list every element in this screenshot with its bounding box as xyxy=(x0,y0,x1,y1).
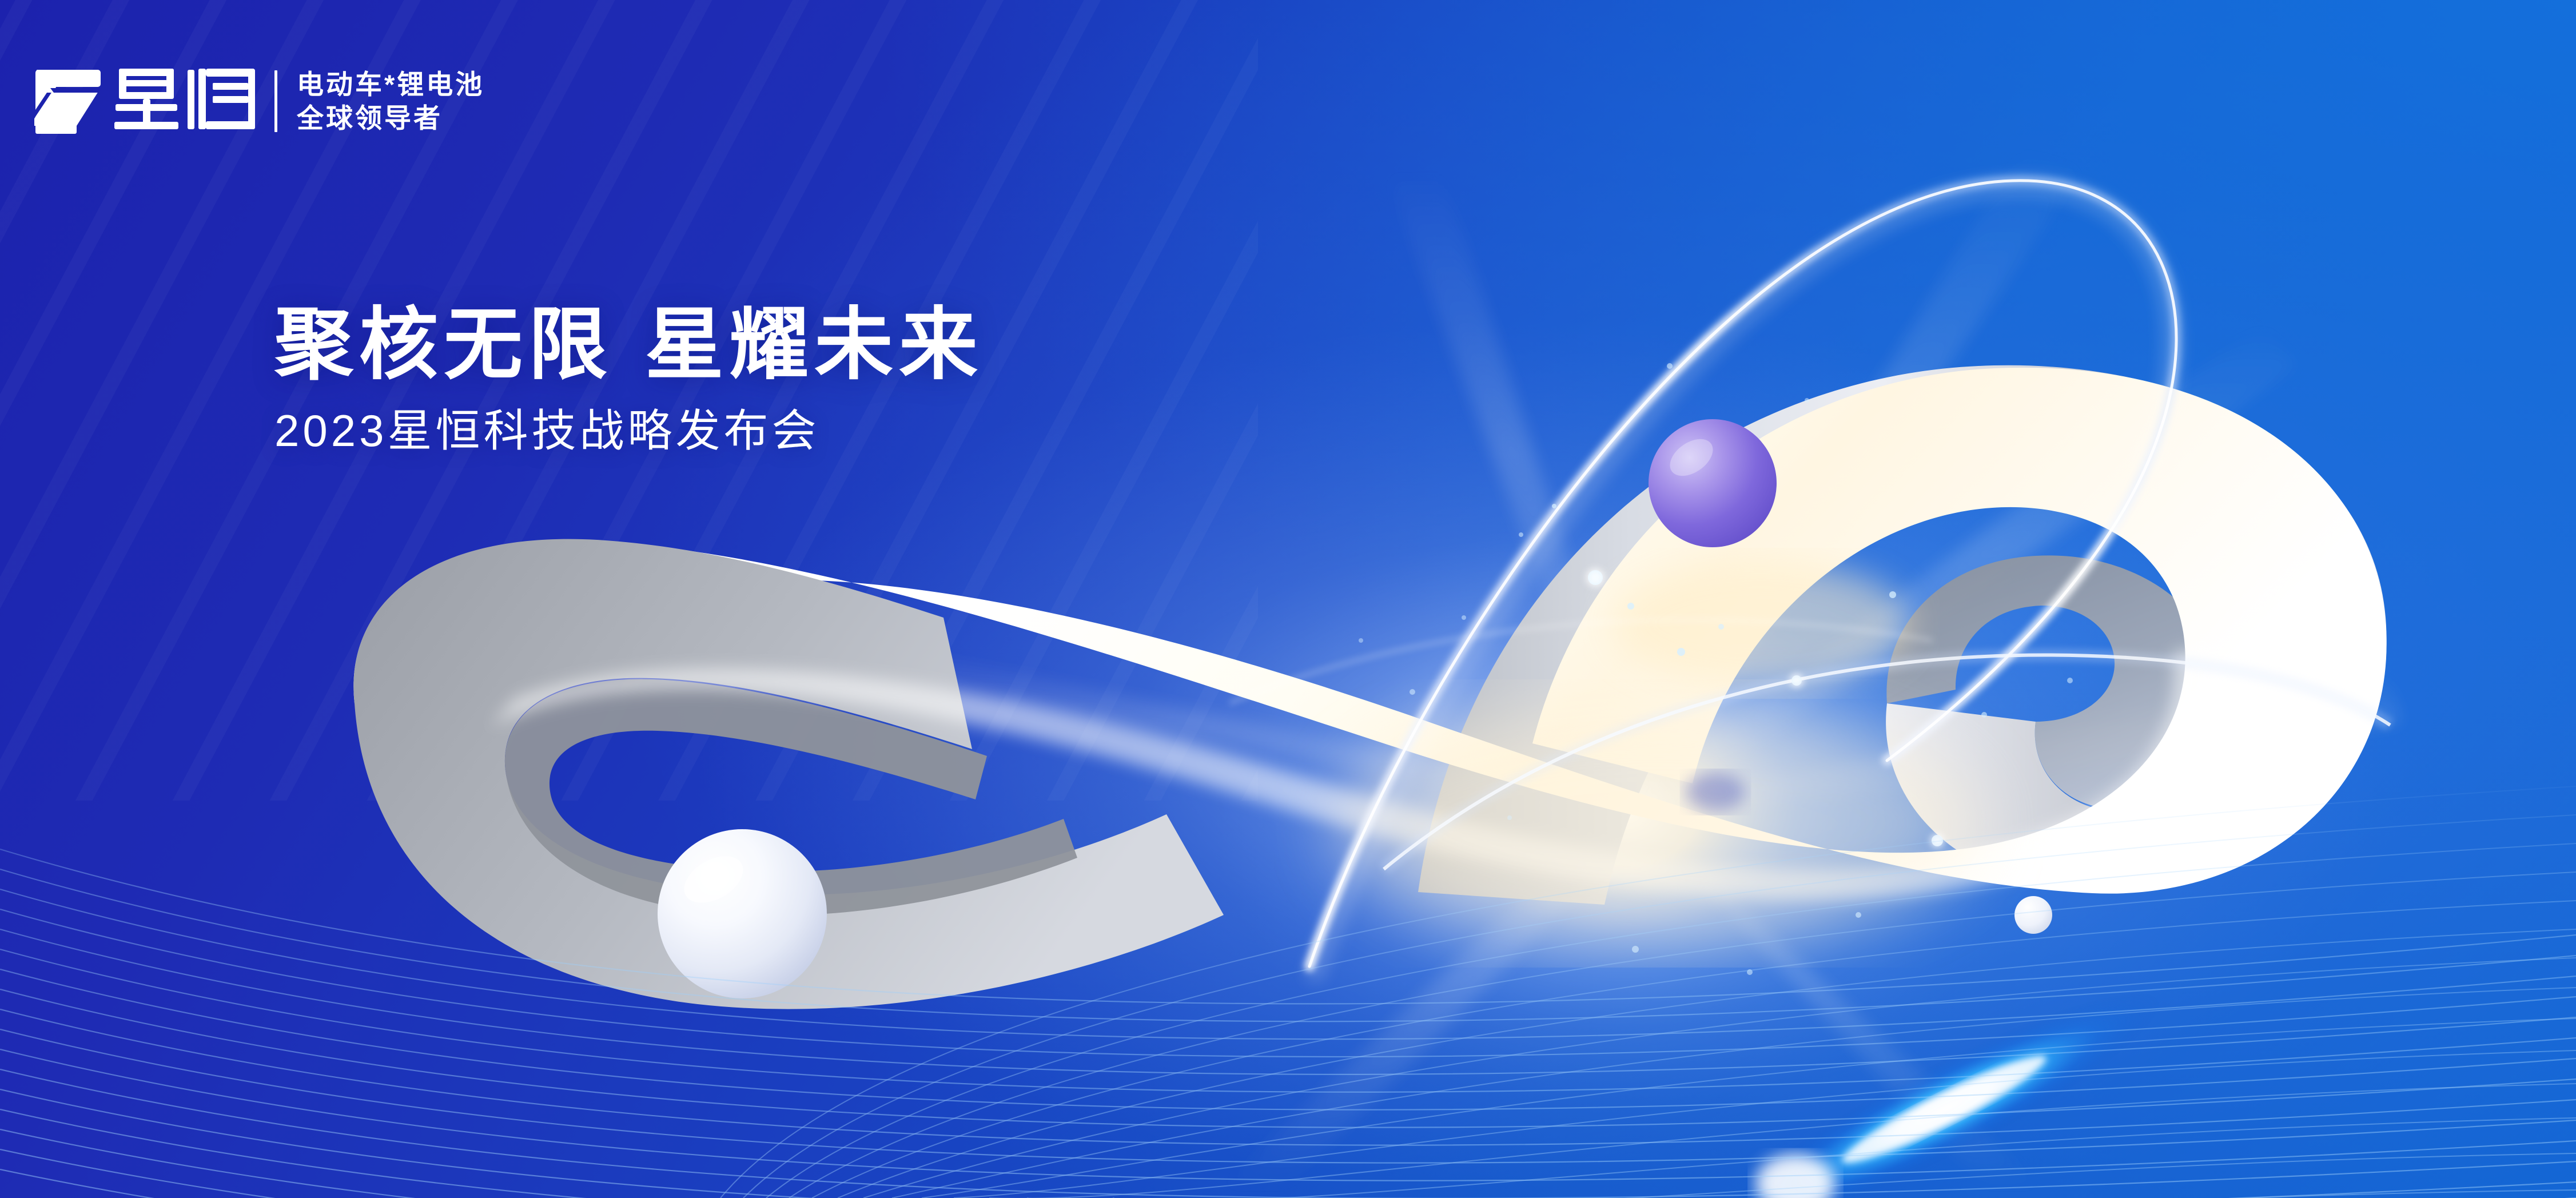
xingheng-parallelogram-mark-icon xyxy=(34,66,102,136)
banner-canvas: 电动车*锂电池 全球领导者 聚核无限星耀未来 2023星恒科技战略发布会 xyxy=(0,0,2576,1198)
page-subtitle: 2023星恒科技战略发布会 xyxy=(274,408,984,453)
brand-tagline: 电动车*锂电池 全球领导者 xyxy=(297,67,484,135)
headline-block: 聚核无限星耀未来 2023星恒科技战略发布会 xyxy=(274,305,984,453)
brand-logo-lockup[interactable]: 电动车*锂电池 全球领导者 xyxy=(34,65,484,138)
wordmark-xingheng-icon xyxy=(114,67,257,135)
tagline-line-2: 全球领导者 xyxy=(297,101,484,135)
wireframe-mesh xyxy=(0,763,2576,1198)
headline-part-2: 星耀未来 xyxy=(645,301,984,389)
hero-artwork xyxy=(0,0,2576,1198)
logo-divider xyxy=(274,70,277,132)
page-title: 聚核无限星耀未来 xyxy=(274,305,984,384)
tagline-line-1: 电动车*锂电池 xyxy=(297,67,484,101)
headline-part-1: 聚核无限 xyxy=(274,301,613,389)
